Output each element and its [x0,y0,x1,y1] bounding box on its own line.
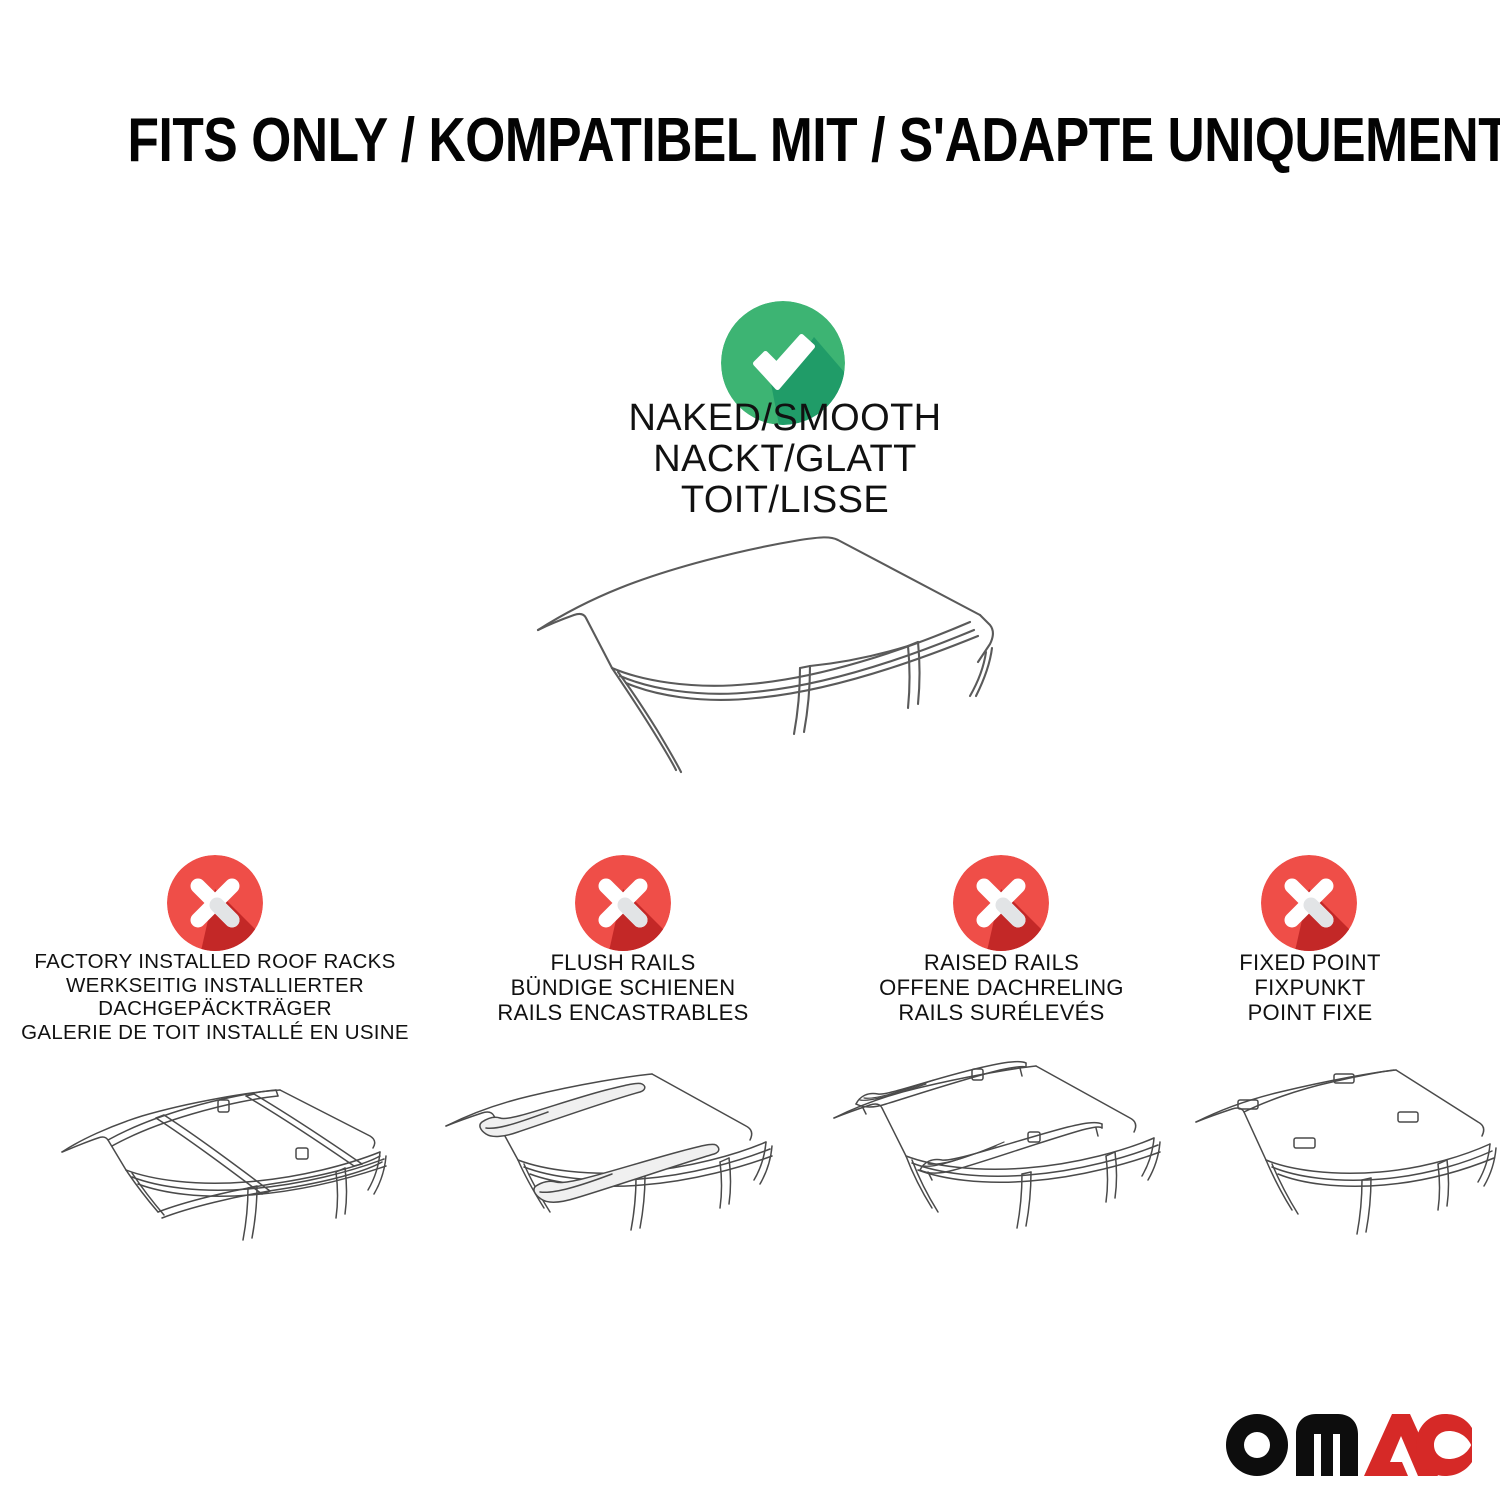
car-roof-naked-smooth-illustration [500,520,1030,800]
label-line: DACHGEPÄCKTRÄGER [15,997,415,1021]
flush-rails-label: FLUSH RAILS BÜNDIGE SCHIENEN RAILS ENCAS… [443,950,803,1025]
factory-rack-label: FACTORY INSTALLED ROOF RACKS WERKSEITIG … [15,950,415,1044]
logo-letter-o [1226,1414,1288,1476]
label-line: NACKT/GLATT [520,439,1050,480]
label-line: TOIT/LISSE [520,480,1050,521]
label-line: BÜNDIGE SCHIENEN [443,975,803,1000]
label-line: WERKSEITIG INSTALLIERTER [15,974,415,998]
label-line: FACTORY INSTALLED ROOF RACKS [15,950,415,974]
label-line: OFFENE DACHRELING [830,975,1173,1000]
label-line: FIXED POINT [1160,950,1460,975]
cross-circle-icon [167,855,263,951]
car-roof-factory-rack-illustration [50,1060,422,1272]
car-roof-raised-rails-illustration [830,1060,1202,1272]
logo-letter-c [1416,1414,1472,1476]
compatible-roof-label: NAKED/SMOOTH NACKT/GLATT TOIT/LISSE [520,398,1050,521]
label-line: RAILS ENCASTRABLES [443,1000,803,1025]
label-line: FIXPUNKT [1160,975,1460,1000]
car-roof-fixed-point-illustration [1190,1060,1500,1272]
label-line: RAISED RAILS [830,950,1173,975]
car-roof-flush-rails-illustration [440,1060,812,1272]
omac-logo [1222,1410,1472,1480]
label-line: NAKED/SMOOTH [520,398,1050,439]
label-line: RAILS SURÉLEVÉS [830,1000,1173,1025]
raised-rails-label: RAISED RAILS OFFENE DACHRELING RAILS SUR… [830,950,1173,1025]
cross-circle-icon [575,855,671,951]
cross-circle-icon [1261,855,1357,951]
fixed-point-label: FIXED POINT FIXPUNKT POINT FIXE [1160,950,1460,1025]
logo-letter-m [1296,1414,1358,1476]
label-line: GALERIE DE TOIT INSTALLÉ EN USINE [15,1021,415,1045]
label-line: FLUSH RAILS [443,950,803,975]
page-title: FITS ONLY / KOMPATIBEL MIT / S'ADAPTE UN… [128,106,1373,176]
label-line: POINT FIXE [1160,1000,1460,1025]
cross-circle-icon [953,855,1049,951]
